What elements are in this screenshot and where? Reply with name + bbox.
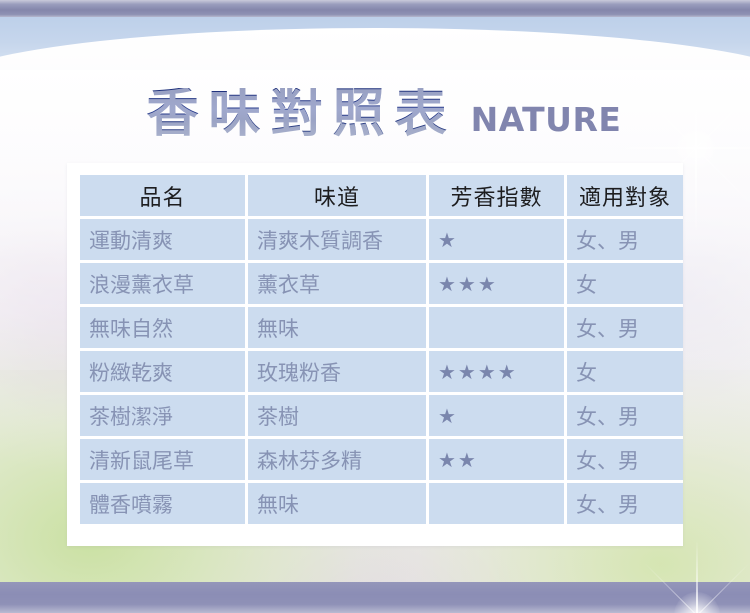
star-rating: ★★ [438,450,478,470]
star-rating: ★★★★ [438,362,518,382]
cell-product-name: 無味自然 [80,307,245,348]
page-title: 香味對照表 [147,88,459,140]
cell-scent: 無味 [248,483,426,524]
cell-target-audience: 女 [567,351,683,392]
table-row: 浪漫薰衣草薰衣草★★★女 [80,263,683,304]
top-band [0,0,750,17]
star-rating: ★ [438,230,458,250]
cell-scent: 無味 [248,307,426,348]
column-header-scent: 味道 [248,175,426,216]
cell-target-audience: 女、男 [567,395,683,436]
star-rating: ★ [438,406,458,426]
cell-product-name: 清新鼠尾草 [80,439,245,480]
cell-scent: 茶樹 [248,395,426,436]
table-card: 品名 味道 芳香指數 適用對象 運動清爽清爽木質調香★女、男浪漫薰衣草薰衣草★★… [67,163,683,546]
cell-target-audience: 女 [567,263,683,304]
table-row: 運動清爽清爽木質調香★女、男 [80,219,683,260]
column-header-name: 品名 [80,175,245,216]
cell-scent: 玫瑰粉香 [248,351,426,392]
table-row: 無味自然無味女、男 [80,307,683,348]
star-rating: ★★★ [438,274,498,294]
poster-root: 香味對照表 NATURE 品名 味道 芳香指數 適用對象 運動清爽清爽木質調香★… [0,0,750,613]
brand-label: NATURE [471,103,622,136]
cell-fragrance-index: ★★ [429,439,564,480]
table-row: 清新鼠尾草森林芬多精★★女、男 [80,439,683,480]
cell-fragrance-index: ★★★★ [429,351,564,392]
cell-target-audience: 女、男 [567,483,683,524]
cell-product-name: 茶樹潔淨 [80,395,245,436]
cell-product-name: 運動清爽 [80,219,245,260]
cell-scent: 清爽木質調香 [248,219,426,260]
cell-fragrance-index: ★ [429,395,564,436]
cell-fragrance-index: ★★★ [429,263,564,304]
cell-fragrance-index: ★ [429,219,564,260]
cell-target-audience: 女、男 [567,307,683,348]
bottom-band [0,582,750,613]
table-row: 粉緻乾爽玫瑰粉香★★★★女 [80,351,683,392]
column-header-index: 芳香指數 [429,175,564,216]
cell-target-audience: 女、男 [567,439,683,480]
column-header-target: 適用對象 [567,175,683,216]
cell-target-audience: 女、男 [567,219,683,260]
header-row: 品名 味道 芳香指數 適用對象 [80,175,683,216]
table-header: 品名 味道 芳香指數 適用對象 [80,175,683,216]
cell-product-name: 體香噴霧 [80,483,245,524]
table-row: 體香噴霧無味女、男 [80,483,683,524]
cell-fragrance-index [429,307,564,348]
cell-scent: 森林芬多精 [248,439,426,480]
fragrance-table: 品名 味道 芳香指數 適用對象 運動清爽清爽木質調香★女、男浪漫薰衣草薰衣草★★… [77,172,686,527]
title-row: 香味對照表 NATURE [0,58,750,140]
table-body: 運動清爽清爽木質調香★女、男浪漫薰衣草薰衣草★★★女無味自然無味女、男粉緻乾爽玫… [80,219,683,524]
cell-product-name: 浪漫薰衣草 [80,263,245,304]
cell-scent: 薰衣草 [248,263,426,304]
cell-fragrance-index [429,483,564,524]
table-row: 茶樹潔淨茶樹★女、男 [80,395,683,436]
cell-product-name: 粉緻乾爽 [80,351,245,392]
